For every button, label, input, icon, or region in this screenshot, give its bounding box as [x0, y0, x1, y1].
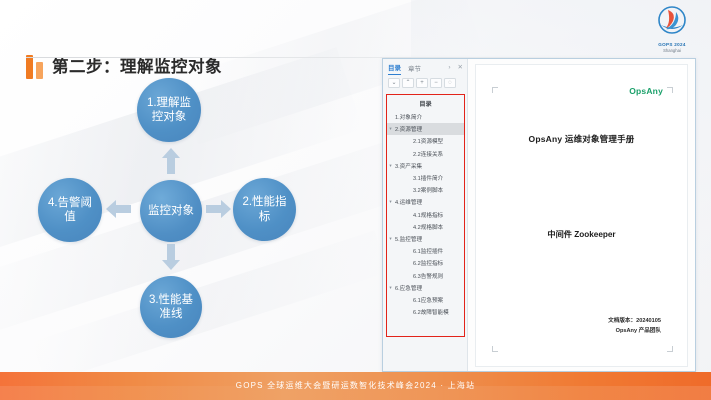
toc-item[interactable]: 3.1插件简介 — [387, 172, 464, 184]
toc-item[interactable]: 2.2连接关系 — [387, 148, 464, 160]
toc-item[interactable]: 4.1规格指标 — [387, 209, 464, 221]
toc-item-label: 1.对象简介 — [394, 113, 422, 121]
toc-item[interactable]: ▾2.资源管理 — [387, 123, 464, 135]
diagram-node-performance-baseline: 3.性能基准线 — [140, 276, 202, 338]
tab-chapters[interactable]: 章节 — [408, 63, 421, 75]
gops-logo: GOPS 2024 Shanghai — [643, 6, 701, 54]
toc-item[interactable]: 4.2规格脚本 — [387, 221, 464, 233]
toc-item[interactable]: ▾4.运维管理 — [387, 196, 464, 208]
toc-item[interactable]: 6.2故障智能模 — [387, 306, 464, 318]
toc-item-label: 6.应急管理 — [394, 284, 422, 292]
tab-contents[interactable]: 目录 — [388, 62, 401, 75]
document-subtitle: 中间件 Zookeeper — [476, 228, 687, 240]
chevron-down-icon[interactable]: ▾ — [387, 126, 394, 132]
toc-item-label: 4.运维管理 — [394, 198, 422, 206]
toc-item[interactable]: ▾3.资产采集 — [387, 160, 464, 172]
crop-mark-icon — [492, 346, 498, 352]
toc-item[interactable]: ▾5.监控管理 — [387, 233, 464, 245]
toc-tab-bar: 目录 章节 › ✕ — [383, 59, 467, 75]
toc-item-label: 2.2连接关系 — [401, 150, 443, 158]
document-version: 文档版本：20240105 — [608, 316, 661, 326]
arrow-up-icon — [161, 148, 181, 174]
document-page: OpsAny OpsAny 运维对象管理手册 中间件 Zookeeper 文档版… — [475, 64, 688, 367]
toc-item-label: 2.1资源模型 — [401, 137, 443, 145]
toc-item-label: 5.监控管理 — [394, 235, 422, 243]
document-title: OpsAny 运维对象管理手册 — [476, 133, 687, 145]
chevron-down-icon[interactable]: ▾ — [387, 163, 394, 169]
prev-page-button[interactable]: ⌃ — [402, 78, 414, 88]
close-icon[interactable]: ✕ — [458, 65, 463, 72]
toc-item-label: 6.2故障智能模 — [401, 308, 449, 316]
toc-item-label: 6.1监控插件 — [401, 247, 443, 255]
toc-item[interactable]: 6.1应急预案 — [387, 294, 464, 306]
title-accent-bars-icon — [26, 55, 43, 79]
toc-item-label: 3.资产采集 — [394, 162, 422, 170]
fit-page-button[interactable]: ◌ — [444, 78, 456, 88]
toc-item-label: 6.1应急预案 — [401, 296, 443, 304]
toc-toolbar: ⌄ ⌃ + − ◌ — [383, 75, 467, 91]
monitoring-flow-diagram: 1.理解监控对象 2.性能指标 3.性能基准线 4.告警阈值 监控对象 — [0, 78, 372, 364]
toc-item-label: 2.资源管理 — [394, 125, 422, 133]
crop-mark-icon — [667, 346, 673, 352]
gops-emblem-icon — [654, 6, 690, 42]
zoom-out-button[interactable]: − — [430, 78, 442, 88]
diagram-node-understand-target: 1.理解监控对象 — [137, 78, 201, 142]
toc-item[interactable]: 6.1监控插件 — [387, 245, 464, 257]
toc-pane: 目录 章节 › ✕ ⌄ ⌃ + − ◌ 目录 1.对象简介▾2.资源管理2.1资… — [383, 59, 468, 371]
document-page-pane[interactable]: OpsAny OpsAny 运维对象管理手册 中间件 Zookeeper 文档版… — [468, 59, 695, 371]
diagram-node-center-monitoring-target: 监控对象 — [140, 180, 202, 242]
toc-item[interactable]: 6.3告警规则 — [387, 269, 464, 281]
diagram-node-performance-metrics: 2.性能指标 — [233, 178, 296, 241]
document-author: OpsAny 产品团队 — [608, 326, 661, 336]
footer-band: GOPS 全球运维大会暨研运数智化技术峰会2024 · 上海站 — [0, 372, 711, 400]
footer-text: GOPS 全球运维大会暨研运数智化技术峰会2024 · 上海站 — [0, 380, 711, 391]
zoom-in-button[interactable]: + — [416, 78, 428, 88]
toc-item-label: 6.3告警规则 — [401, 272, 443, 280]
toc-item-label: 4.2规格脚本 — [401, 223, 443, 231]
toc-item[interactable]: 1.对象简介 — [387, 111, 464, 123]
crop-mark-icon — [492, 87, 498, 93]
document-cover-footer: 文档版本：20240105 OpsAny 产品团队 — [608, 316, 661, 336]
toc-item[interactable]: 3.2案例脚本 — [387, 184, 464, 196]
node-label: 1.理解监控对象 — [145, 96, 193, 125]
toc-item-label: 3.2案例脚本 — [401, 186, 443, 194]
node-label: 2.性能指标 — [241, 195, 288, 224]
node-label: 3.性能基准线 — [148, 293, 194, 322]
toc-list: 1.对象简介▾2.资源管理2.1资源模型2.2连接关系▾3.资产采集3.1插件简… — [387, 111, 464, 318]
toc-heading: 目录 — [387, 95, 464, 111]
toc-item-label: 3.1插件简介 — [401, 174, 443, 182]
arrow-down-icon — [161, 244, 181, 270]
diagram-node-alert-threshold: 4.告警阈值 — [38, 178, 102, 242]
chevron-down-icon[interactable]: ▾ — [387, 285, 394, 291]
arrow-right-icon — [206, 199, 231, 219]
crop-mark-icon — [667, 87, 673, 93]
toc-item[interactable]: 6.2监控指标 — [387, 257, 464, 269]
document-viewer-window: 目录 章节 › ✕ ⌄ ⌃ + − ◌ 目录 1.对象简介▾2.资源管理2.1资… — [382, 58, 696, 372]
arrow-left-icon — [106, 199, 131, 219]
gops-logo-line2: Shanghai — [643, 48, 701, 54]
gops-emblem-svg — [654, 6, 690, 36]
toc-item[interactable]: 2.1资源模型 — [387, 135, 464, 147]
chevron-down-icon[interactable]: ▾ — [387, 236, 394, 242]
next-page-button[interactable]: ⌄ — [388, 78, 400, 88]
toc-item-label: 4.1规格指标 — [401, 211, 443, 219]
node-label: 监控对象 — [148, 204, 194, 218]
opsany-logo: OpsAny — [629, 86, 663, 96]
toc-highlight-box: 目录 1.对象简介▾2.资源管理2.1资源模型2.2连接关系▾3.资产采集3.1… — [386, 94, 465, 337]
toc-item[interactable]: ▾6.应急管理 — [387, 282, 464, 294]
node-label: 4.告警阈值 — [46, 196, 94, 225]
chevron-down-icon[interactable]: ▾ — [387, 199, 394, 205]
chevron-right-icon[interactable]: › — [448, 65, 450, 72]
toc-item-label: 6.2监控指标 — [401, 259, 443, 267]
